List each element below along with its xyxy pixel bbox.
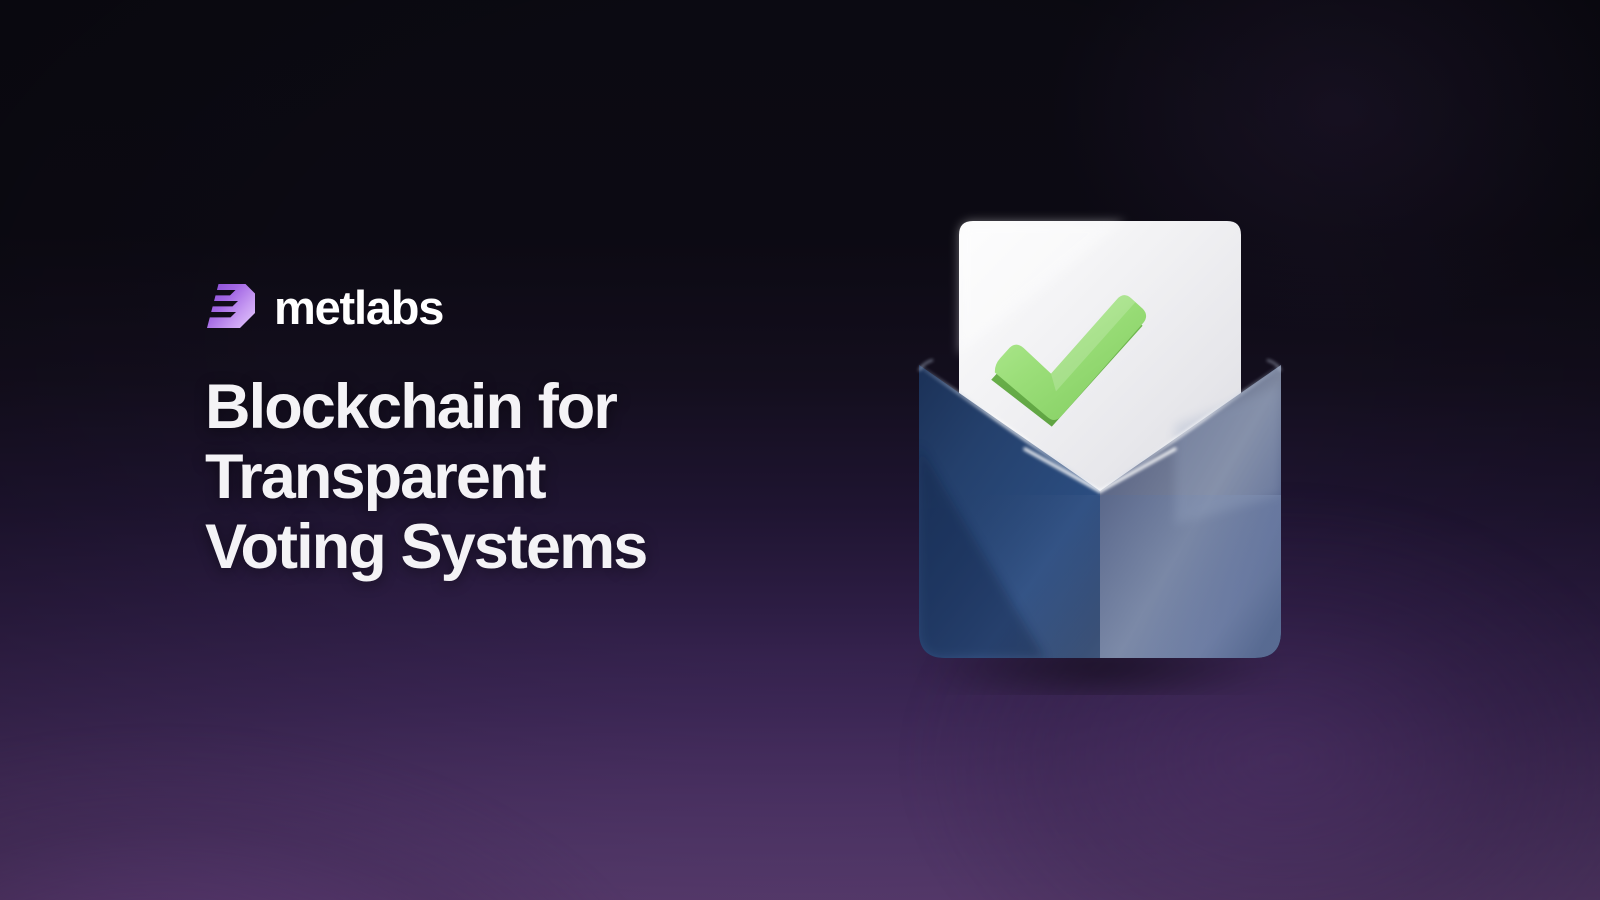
metlabs-chevron-mark-icon (205, 281, 257, 331)
brand-lockup: metlabs (205, 278, 825, 334)
open-envelope-with-checkmark-illustration (875, 195, 1325, 695)
page-title: Blockchain for Transparent Voting System… (205, 372, 765, 583)
content-column: metlabs Blockchain for Transparent Votin… (205, 278, 825, 583)
brand-wordmark: metlabs (274, 284, 443, 331)
poster-canvas: metlabs Blockchain for Transparent Votin… (0, 0, 1600, 900)
